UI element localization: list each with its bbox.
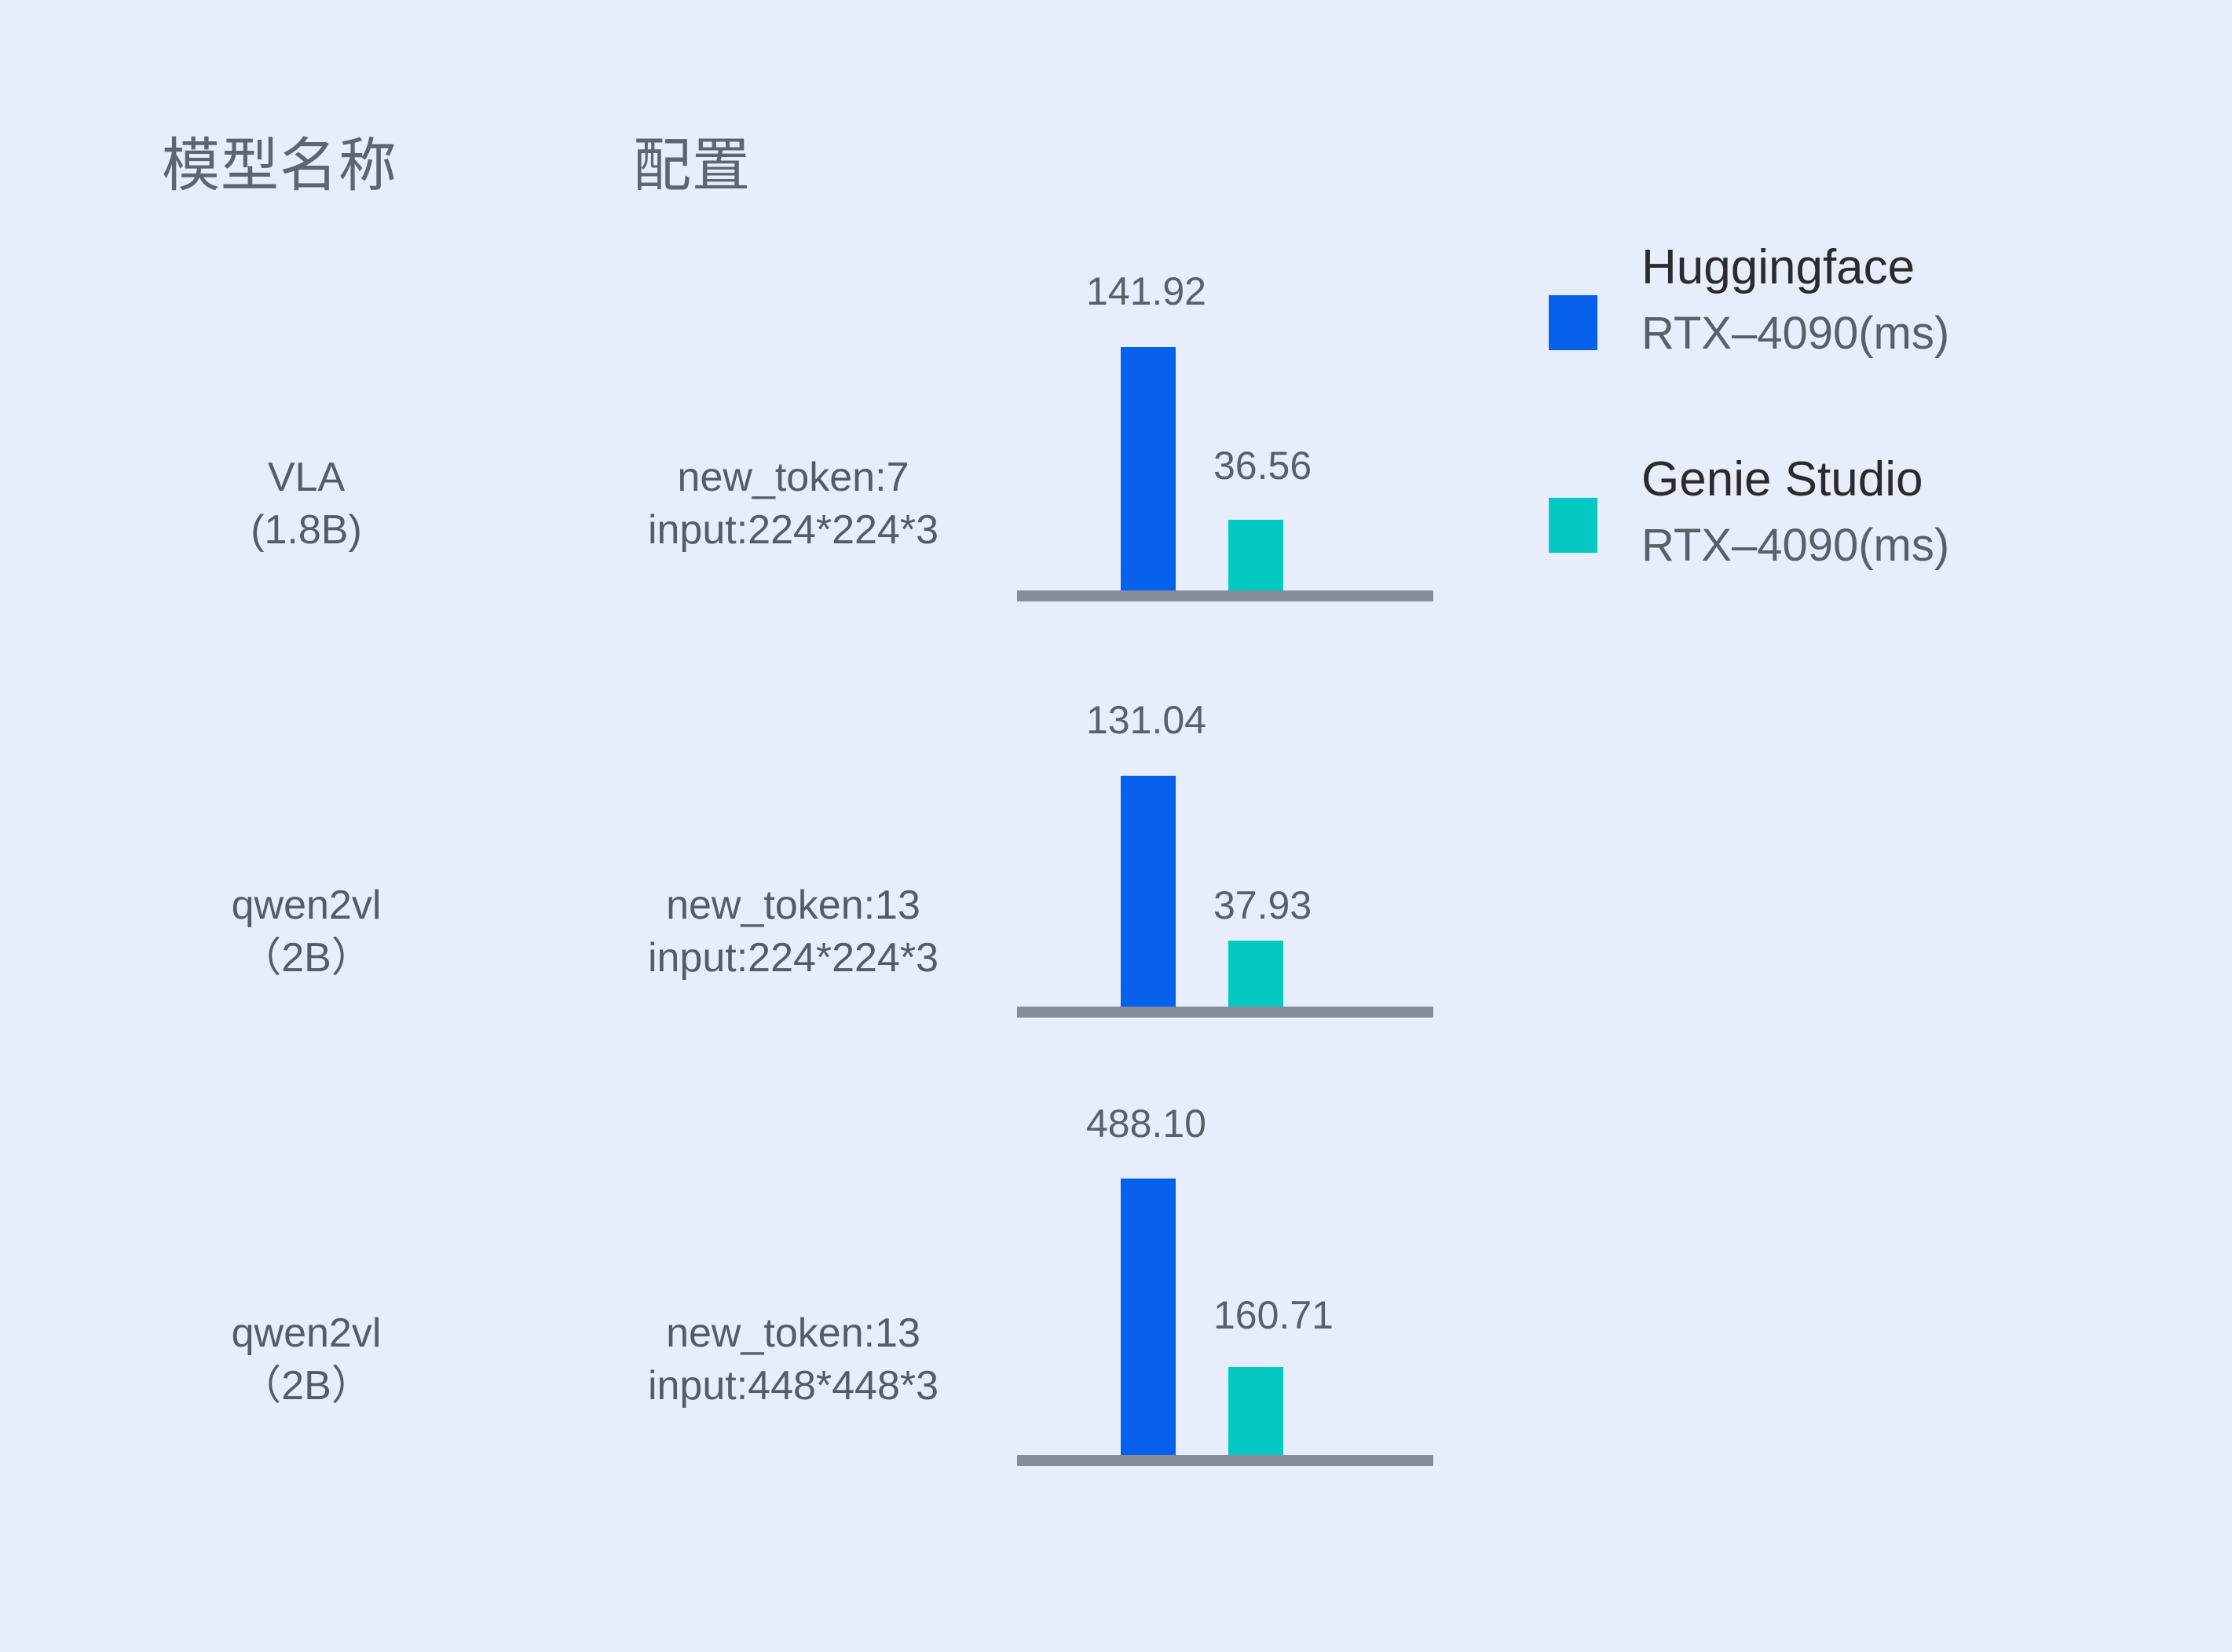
bar-huggingface[interactable] — [1121, 347, 1176, 590]
legend-item-text: Huggingface RTX–4090(ms) — [1641, 243, 2081, 356]
row-baseline — [1017, 1007, 1433, 1018]
bar-value-genie-studio: 37.93 — [1213, 886, 1312, 925]
row-config-line1: new_token:7 — [678, 455, 909, 500]
bar-value-huggingface: 488.10 — [1086, 1104, 1206, 1143]
row-plot-area: 488.10 160.71 — [1017, 1084, 1457, 1523]
legend-swatch-icon — [1549, 295, 1597, 350]
row-config-label: new_token:7 input:224*224*3 — [487, 451, 1100, 556]
row-model-label: qwen2vl （2B） — [149, 879, 463, 984]
row-config-line2: input:448*448*3 — [487, 1360, 1100, 1413]
chart-row: qwen2vl （2B） new_token:13 input:224*224*… — [0, 660, 2232, 1084]
legend-swatch-icon — [1549, 498, 1597, 553]
row-config-line2: input:224*224*3 — [487, 932, 1100, 985]
row-model-line2: (1.8B) — [149, 504, 463, 557]
row-config-line1: new_token:13 — [666, 1310, 920, 1356]
row-config-line1: new_token:13 — [666, 883, 920, 928]
bar-value-genie-studio: 36.56 — [1213, 446, 1312, 485]
row-model-line1: qwen2vl — [232, 883, 382, 928]
bar-huggingface[interactable] — [1121, 776, 1176, 1007]
row-plot-area: 131.04 37.93 — [1017, 660, 1457, 1084]
row-config-line2: input:224*224*3 — [487, 504, 1100, 557]
chart-row: qwen2vl （2B） new_token:13 input:448*448*… — [0, 1084, 2232, 1523]
row-baseline — [1017, 1455, 1433, 1466]
bar-value-huggingface: 141.92 — [1086, 272, 1206, 311]
legend-item-huggingface[interactable]: Huggingface RTX–4090(ms) — [1543, 243, 2093, 408]
bar-huggingface[interactable] — [1121, 1179, 1176, 1463]
bar-value-genie-studio: 160.71 — [1213, 1296, 1334, 1335]
row-model-line2: （2B） — [149, 932, 463, 985]
legend-item-subtitle: RTX–4090(ms) — [1641, 523, 2081, 568]
legend-item-genie-studio[interactable]: Genie Studio RTX–4090(ms) — [1543, 455, 2093, 620]
bar-genie-studio[interactable] — [1228, 520, 1283, 590]
bar-genie-studio[interactable] — [1228, 941, 1283, 1007]
row-model-label: VLA (1.8B) — [149, 451, 463, 556]
legend-item-text: Genie Studio RTX–4090(ms) — [1641, 455, 2081, 568]
bar-value-huggingface: 131.04 — [1086, 700, 1206, 740]
row-model-line2: （2B） — [149, 1360, 463, 1413]
row-config-label: new_token:13 input:448*448*3 — [487, 1307, 1100, 1412]
row-plot-area: 141.92 36.56 — [1017, 236, 1457, 660]
row-config-label: new_token:13 input:224*224*3 — [487, 879, 1100, 984]
row-model-label: qwen2vl （2B） — [149, 1307, 463, 1412]
row-model-line1: VLA — [268, 455, 345, 500]
row-baseline — [1017, 590, 1433, 601]
legend-item-subtitle: RTX–4090(ms) — [1641, 311, 2081, 356]
bar-genie-studio[interactable] — [1228, 1367, 1283, 1455]
legend-item-title: Genie Studio — [1641, 455, 2081, 504]
legend-item-title: Huggingface — [1641, 243, 2081, 292]
row-model-line1: qwen2vl — [232, 1310, 382, 1356]
